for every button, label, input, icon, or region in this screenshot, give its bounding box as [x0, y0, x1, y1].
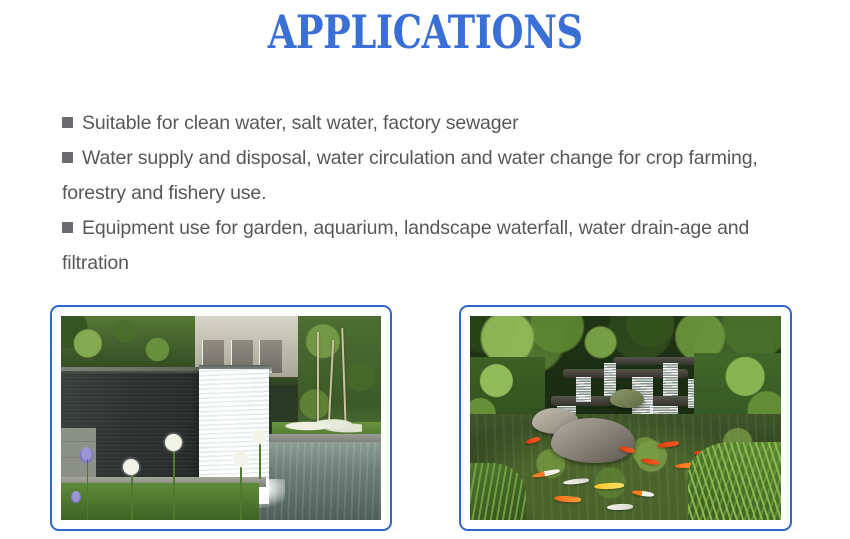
list-item-text: Water supply and disposal, water circula…	[62, 147, 758, 204]
photo-flower-stem	[173, 442, 175, 520]
list-item-text: Suitable for clean water, salt water, fa…	[82, 112, 518, 134]
photo-bottom-right-grass	[688, 442, 781, 520]
photo-allium-flower	[233, 451, 249, 467]
bullet-square-icon	[62, 117, 73, 128]
bullet-square-icon	[62, 152, 73, 163]
photo-rock-ledge	[613, 357, 700, 365]
photo-flower-stem	[259, 438, 261, 479]
photo-flower-stem	[87, 459, 89, 520]
photo-boulder	[610, 389, 644, 407]
list-item-text: Equipment use for garden, aquarium, land…	[62, 217, 749, 274]
photo-front-lawn	[61, 483, 259, 520]
list-item: Equipment use for garden, aquarium, land…	[62, 211, 802, 281]
photo-boulder	[551, 418, 635, 463]
photo-flower-stem	[131, 467, 133, 520]
photo-frame-koi-pond	[459, 305, 792, 531]
page-title: APPLICATIONS	[85, 6, 765, 58]
photo-flower-stem	[240, 459, 242, 520]
photo-white-hosta	[285, 416, 362, 436]
photo-natural-koi-pond-waterfall	[470, 316, 781, 520]
applications-page: APPLICATIONS Suitable for clean water, s…	[0, 0, 850, 539]
list-item: Water supply and disposal, water circula…	[62, 141, 802, 211]
photo-frame-water-wall	[50, 305, 392, 531]
photo-architectural-water-wall	[61, 316, 381, 520]
photo-koi-fish	[607, 503, 633, 510]
photo-waterfall-stream	[576, 377, 592, 401]
photo-iris-flower	[71, 491, 81, 503]
photo-tree-trunk	[317, 332, 319, 426]
applications-list: Suitable for clean water, salt water, fa…	[62, 106, 802, 281]
list-item: Suitable for clean water, salt water, fa…	[62, 106, 802, 141]
bullet-square-icon	[62, 222, 73, 233]
